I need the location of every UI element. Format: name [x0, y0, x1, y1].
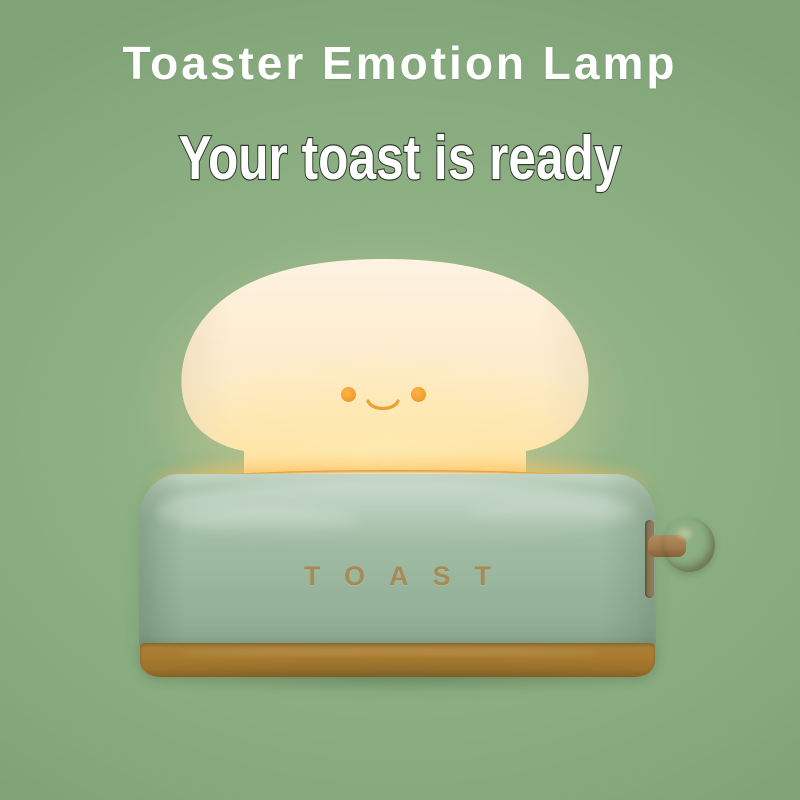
- body-highlight-right: [469, 502, 619, 524]
- brand-wordmark: TOAST: [139, 561, 656, 592]
- base-highlight: [180, 649, 600, 657]
- toast-shade[interactable]: [170, 255, 600, 500]
- body-highlight-left: [179, 508, 359, 534]
- product-photo-canvas: Toaster Emotion Lamp Your toast is ready: [0, 0, 800, 800]
- toast-edge-shading: [181, 259, 588, 500]
- left-eye-icon: [341, 387, 356, 402]
- lever-track: [645, 520, 654, 598]
- right-eye-icon: [411, 387, 426, 402]
- lever-knob-icon[interactable]: [663, 518, 715, 572]
- toaster-lamp[interactable]: TOAST: [0, 0, 800, 800]
- lever-knob-highlight: [676, 527, 693, 540]
- contact-shadow: [160, 666, 640, 692]
- smile-icon: [366, 399, 400, 413]
